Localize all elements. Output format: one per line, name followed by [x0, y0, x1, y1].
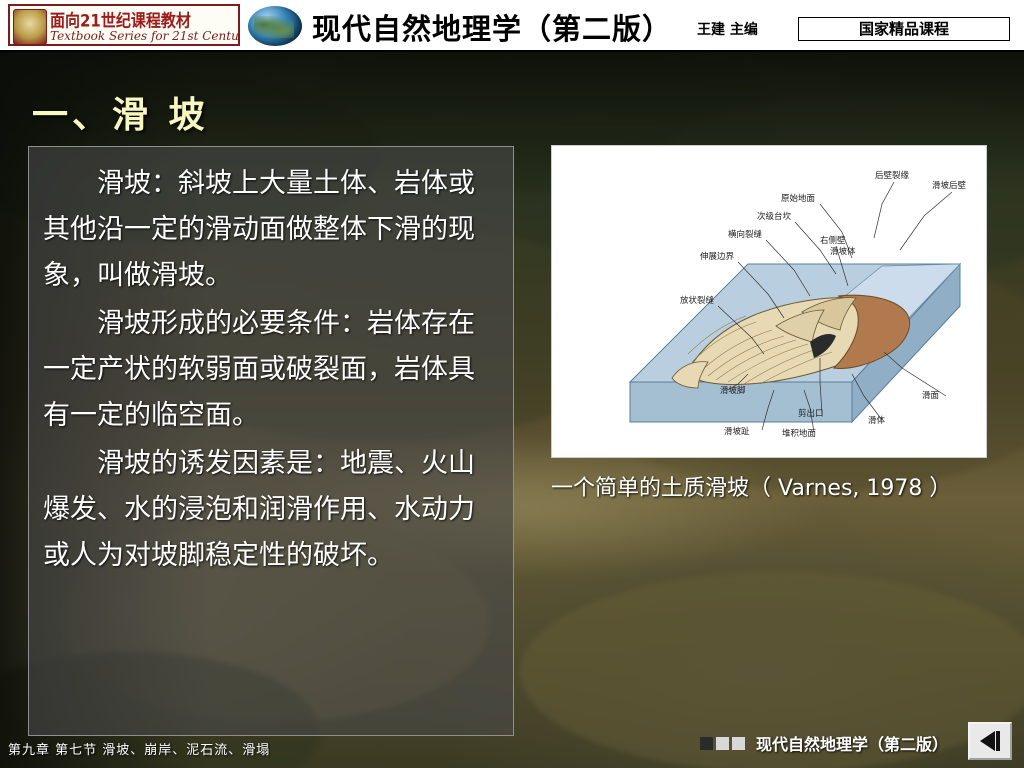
fig-label-toe: 滑坡趾 — [724, 426, 750, 437]
globe-icon — [248, 6, 302, 46]
fig-label-main-scarp: 滑坡后壁 — [932, 180, 967, 191]
fig-label-back-scarp-crack: 后壁裂缘 — [875, 170, 910, 181]
logo-english-text: Textbook Series for 21st Century — [50, 29, 240, 43]
course-title: 现代自然地理学（第二版） — [312, 6, 672, 48]
brand-square-icon — [716, 737, 729, 750]
fig-label-original-surface: 原始地面 — [781, 193, 816, 204]
fig-label-right-flank: 右侧壁 — [820, 235, 846, 246]
footer-section-note: 第九章 第七节 滑坡、崩岸、泥石流、滑塌 — [8, 739, 270, 758]
landslide-diagram: 后壁裂缘 滑坡后壁 原始地面 次级台坎 横向裂缝 右侧壁 伸展边界 放状裂缝 滑… — [551, 145, 987, 458]
next-slide-button[interactable] — [968, 722, 1012, 760]
university-emblem-icon — [13, 9, 47, 45]
national-course-badge: 国家精品课程 — [798, 17, 1010, 41]
brand-square-icon — [700, 737, 713, 750]
fig-label-secondary-terrace: 次级台坎 — [757, 211, 792, 222]
fig-label-slide-surface: 滑面 — [922, 390, 940, 401]
fig-label-main-body: 滑坡体 — [830, 246, 856, 257]
brand-square-icon — [732, 737, 745, 750]
body-paragraph: 滑坡的诱发因素是：地震、火山爆发、水的浸泡和润滑作用、水动力或人为对坡脚稳定性的… — [43, 441, 499, 579]
figure-caption: 一个简单的土质滑坡（ Varnes, 1978 ） — [551, 470, 1003, 502]
footer-brand-text: 现代自然地理学（第二版） — [756, 731, 948, 755]
footer-brand: 现代自然地理学（第二版） — [700, 728, 960, 758]
fig-label-radial-crack: 放状裂缝 — [680, 295, 715, 306]
fig-label-slide-body: 滑体 — [868, 415, 886, 426]
page-title: 一、滑 坡 — [32, 86, 209, 138]
body-paragraph: 滑坡形成的必要条件：岩体存在一定产状的软弱面或破裂面，岩体具有一定的临空面。 — [43, 301, 499, 439]
fig-label-transverse-crack: 横向裂缝 — [728, 229, 763, 240]
fig-label-shear-outlet: 剪出口 — [798, 408, 824, 419]
body-text-panel: 滑坡：斜坡上大量土体、岩体或其他沿一定的滑动面做整体下滑的现象，叫做滑坡。 滑坡… — [28, 146, 514, 736]
fig-label-foot: 滑坡脚 — [720, 385, 746, 396]
presentation-slide: 面向21世纪课程教材 Textbook Series for 21st Cent… — [0, 0, 1024, 768]
next-slide-icon-bar — [996, 731, 1000, 751]
fig-label-accumulation-ground: 堆积地面 — [782, 428, 817, 439]
textbook-series-logo: 面向21世纪课程教材 Textbook Series for 21st Cent… — [8, 4, 240, 46]
editor-credit: 王建 主编 — [697, 19, 758, 39]
body-paragraph: 滑坡：斜坡上大量土体、岩体或其他沿一定的滑动面做整体下滑的现象，叫做滑坡。 — [43, 161, 499, 299]
slide-header: 面向21世纪课程教材 Textbook Series for 21st Cent… — [0, 0, 1024, 52]
next-slide-icon — [980, 731, 995, 751]
fig-label-extension-boundary: 伸展边界 — [700, 251, 735, 262]
